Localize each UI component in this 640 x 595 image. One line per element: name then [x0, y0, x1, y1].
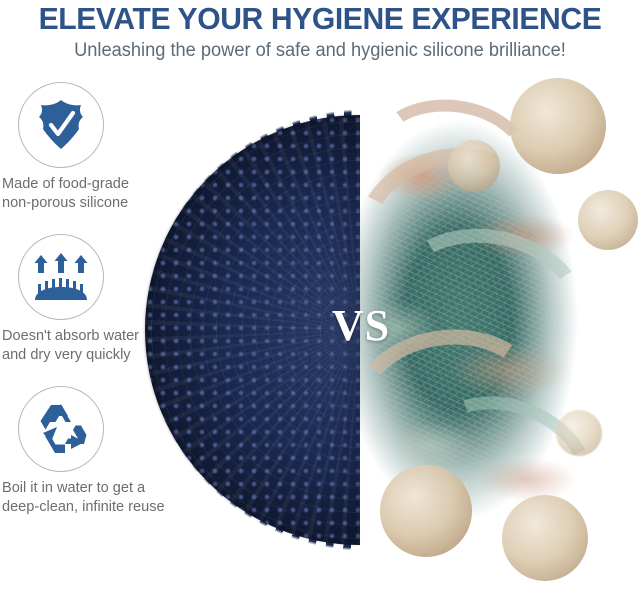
feature-icon-ring: [18, 386, 104, 472]
feature-icon-ring: [18, 234, 104, 320]
virus-particle: [556, 410, 602, 456]
microscopy-photo-panel: [360, 0, 640, 595]
recycle-icon: [34, 402, 88, 456]
virus-capsid: [556, 410, 602, 456]
page-title: ELEVATE YOUR HYGIENE EXPERIENCE: [10, 0, 631, 36]
virus-particle: [578, 190, 638, 250]
feature-list: Made of food-grade non-porous silicone: [0, 82, 190, 538]
virus-capsid: [448, 140, 500, 192]
virus-particle: [448, 140, 500, 192]
virus-capsid: [578, 190, 638, 250]
feature-label: Doesn't absorb water and dry very quickl…: [2, 326, 184, 364]
virus-capsid: [502, 495, 588, 581]
feature-label: Boil it in water to get a deep-clean, in…: [2, 478, 184, 516]
virus-particle: [380, 465, 472, 557]
virus-particle: [510, 78, 606, 174]
feature-item-reusable: Boil it in water to get a deep-clean, in…: [0, 386, 190, 516]
virus-capsid: [510, 78, 606, 174]
feature-item-quick-dry: Doesn't absorb water and dry very quickl…: [0, 234, 190, 364]
evaporation-arrows-icon: [32, 251, 90, 303]
page-subtitle: Unleashing the power of safe and hygieni…: [13, 36, 627, 62]
header: ELEVATE YOUR HYGIENE EXPERIENCE Unleashi…: [0, 0, 640, 70]
shield-check-icon: [35, 98, 87, 152]
virus-capsid: [380, 465, 472, 557]
virus-particle: [502, 495, 588, 581]
feature-label: Made of food-grade non-porous silicone: [2, 174, 184, 212]
feature-icon-ring: [18, 82, 104, 168]
feature-item-food-grade: Made of food-grade non-porous silicone: [0, 82, 190, 212]
vs-label: VS: [320, 303, 402, 349]
product-infographic: VS ELEVATE YOUR HYGIENE EXPERIENCE Unlea…: [0, 0, 640, 595]
